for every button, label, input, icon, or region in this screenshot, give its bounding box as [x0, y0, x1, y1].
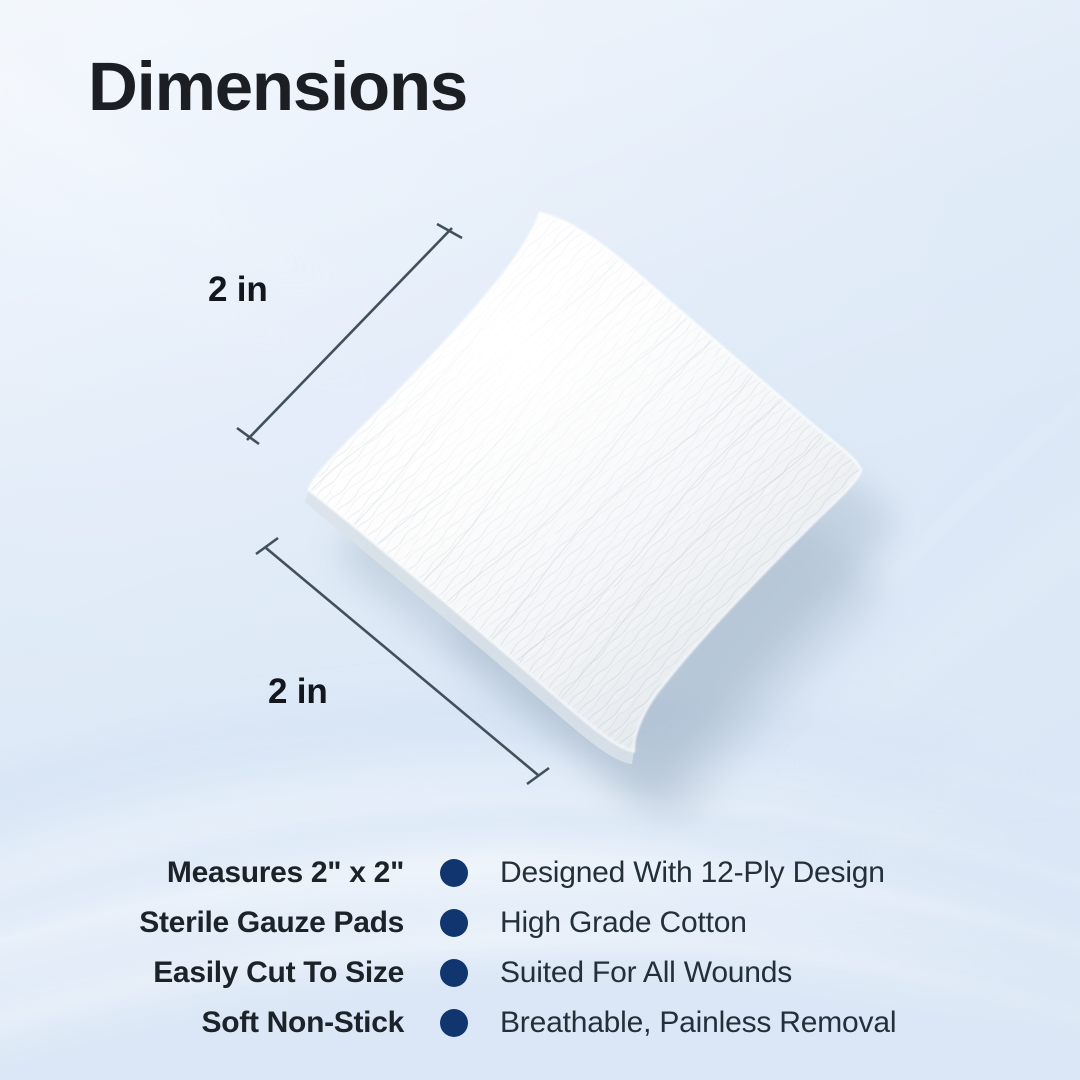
feature-right-label: Breathable, Painless Removal — [500, 1006, 1080, 1040]
feature-left-label: Soft Non-Stick — [0, 1006, 408, 1040]
feature-right-label: Suited For All Wounds — [500, 956, 1080, 990]
feature-left-label: Measures 2" x 2" — [0, 856, 408, 890]
dimension-label-width: 2 in — [208, 272, 268, 307]
feature-left-label: Easily Cut To Size — [0, 956, 408, 990]
bullet-cell — [408, 909, 500, 937]
feature-row: Easily Cut To Size Suited For All Wounds — [0, 948, 1080, 998]
bullet-dot-icon — [440, 909, 468, 937]
product-infographic: Dimensions — [0, 0, 1080, 1080]
feature-row: Measures 2" x 2" Designed With 12-Ply De… — [0, 848, 1080, 898]
feature-row: Soft Non-Stick Breathable, Painless Remo… — [0, 998, 1080, 1048]
page-title: Dimensions — [88, 52, 467, 121]
bullet-dot-icon — [440, 959, 468, 987]
bullet-cell — [408, 859, 500, 887]
feature-row: Sterile Gauze Pads High Grade Cotton — [0, 898, 1080, 948]
bullet-cell — [408, 959, 500, 987]
feature-list: Measures 2" x 2" Designed With 12-Ply De… — [0, 848, 1080, 1048]
feature-left-label: Sterile Gauze Pads — [0, 906, 408, 940]
feature-right-label: Designed With 12-Ply Design — [500, 856, 1080, 890]
bullet-dot-icon — [440, 1009, 468, 1037]
dimension-label-height: 2 in — [268, 674, 328, 709]
feature-right-label: High Grade Cotton — [500, 906, 1080, 940]
bullet-cell — [408, 1009, 500, 1037]
bullet-dot-icon — [440, 859, 468, 887]
